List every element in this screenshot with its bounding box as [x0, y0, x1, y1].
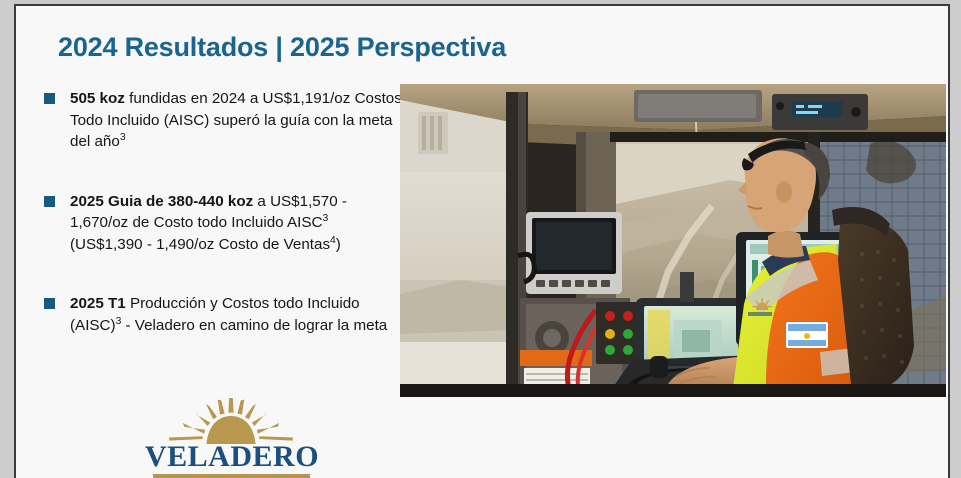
- bullet-tail-3: - Veladero en camino de lograr la meta: [121, 317, 387, 334]
- logo-tagline-banner: UN LEGADO DE VALOR: [153, 474, 310, 478]
- bullet-bold-lead-2: 2025 Guia de 380-440 koz: [70, 193, 253, 210]
- mine-haul-truck-cabin-photo: [400, 84, 946, 397]
- slide-canvas: 2024 Resultados | 2025 Perspectiva 505 k…: [16, 6, 948, 478]
- square-bullet-icon: [44, 93, 55, 104]
- bullet-superscript-2a: 3: [322, 213, 328, 224]
- page-title: 2024 Resultados | 2025 Perspectiva: [58, 32, 506, 63]
- list-item: 505 koz fundidas en 2024 a US$1,191/oz C…: [44, 88, 404, 153]
- bullet-text-3: 2025 T1 Producción y Costos todo Incluid…: [70, 295, 387, 334]
- left-gutter: [0, 0, 14, 478]
- logo-wordmark: VELADERO: [145, 440, 317, 474]
- bullet-tail2-2: ): [336, 236, 341, 253]
- right-gutter: [950, 0, 961, 478]
- bullet-list: 505 koz fundidas en 2024 a US$1,191/oz C…: [44, 88, 404, 336]
- list-item: 2025 T1 Producción y Costos todo Incluid…: [44, 293, 404, 336]
- square-bullet-icon: [44, 298, 55, 309]
- square-bullet-icon: [44, 196, 55, 207]
- bullet-bold-lead-1: 505 koz: [70, 90, 125, 107]
- slide-root: 2024 Resultados | 2025 Perspectiva 505 k…: [0, 0, 961, 478]
- sun-rays-icon: [163, 398, 299, 444]
- list-item: 2025 Guia de 380-440 koz a US$1,570 - 1,…: [44, 191, 404, 256]
- bullet-text-1: 505 koz fundidas en 2024 a US$1,191/oz C…: [70, 90, 402, 150]
- veladero-logo: VELADERO UN LEGADO DE VALOR: [145, 398, 317, 478]
- bullet-bold-lead-3: 2025 T1: [70, 295, 126, 312]
- bullet-tail-2: (US$1,390 - 1,490/oz Costo de Ventas: [70, 236, 330, 253]
- bullet-text-2: 2025 Guia de 380-440 koz a US$1,570 - 1,…: [70, 193, 347, 253]
- bullet-superscript-1: 3: [120, 132, 126, 143]
